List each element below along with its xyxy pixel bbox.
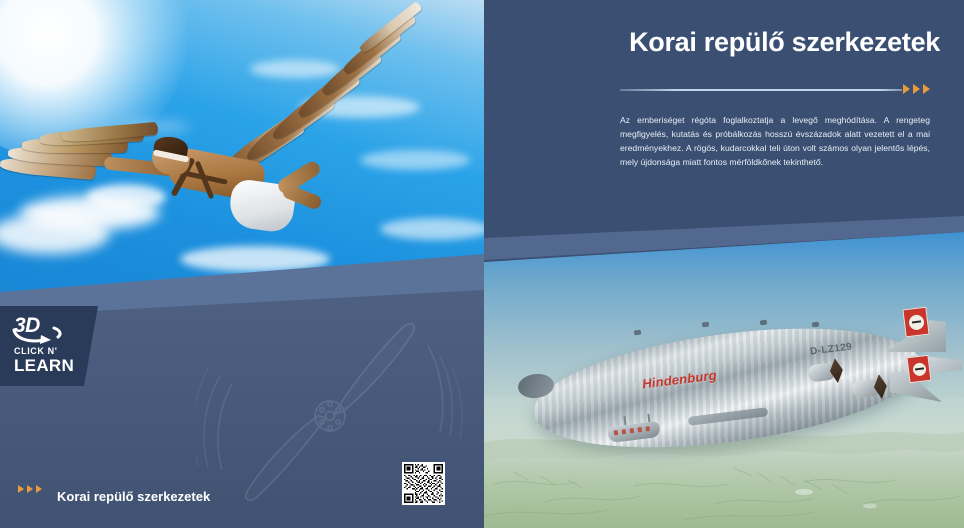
sky-photo [0,0,484,300]
footer-title: Korai repülő szerkezetek [57,489,210,504]
zeppelin-engine [851,378,879,398]
poster-canvas: 3D CLICK N' LEARN Korai repülő szerkezet… [0,0,964,528]
logo-learn-text: LEARN [14,356,74,376]
intro-paragraph: Az emberiséget régóta foglalkoztatja a l… [620,114,930,170]
zeppelin-engine [807,362,835,382]
tail-flag-upper [902,307,929,338]
hindenburg-zeppelin: Hindenburg D-LZ129 [512,300,962,470]
page-title: Korai repülő szerkezetek [620,28,940,58]
qr-code[interactable] [402,462,445,505]
icarus-figure [0,8,460,248]
triangle-icon [903,84,910,94]
triangle-icon [18,485,24,493]
left-panel: 3D CLICK N' LEARN Korai repülő szerkezet… [0,0,484,528]
tail-flag-lower [906,355,931,383]
curved-arrow-icon [10,326,66,344]
triangle-icon [913,84,920,94]
qr-code-icon [404,464,443,503]
triangle-icon [923,84,930,94]
header-markers [903,84,930,94]
footer-markers [18,485,42,493]
right-panel: Hindenburg D-LZ129 [484,0,964,528]
logo-click-text: CLICK N' [14,346,57,356]
triangle-icon [36,485,42,493]
triangle-icon [27,485,33,493]
logo-3d-click-n-learn[interactable]: 3D CLICK N' LEARN [0,306,98,386]
title-divider [620,89,902,91]
figure-body [150,138,300,230]
